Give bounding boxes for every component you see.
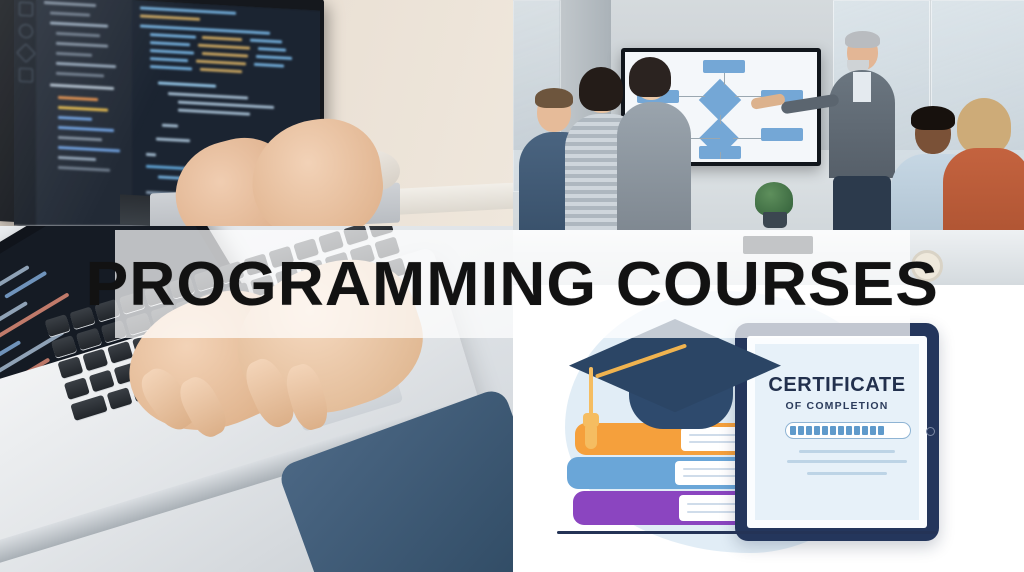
certificate-title: CERTIFICATE <box>755 374 919 397</box>
plant-pot <box>763 212 787 228</box>
ground-line <box>557 531 937 534</box>
certificate-document: CERTIFICATE OF COMPLETION <box>755 344 919 520</box>
poster-title: PROGRAMMING COURSES <box>86 249 939 320</box>
tassel-drop <box>589 367 593 419</box>
desk-papers <box>386 183 513 216</box>
panel-code-editor-photo <box>0 0 513 226</box>
poster-canvas: CERTIFICATE OF COMPLETION <box>0 0 1024 572</box>
progress-bar <box>785 422 911 439</box>
certificate-subtitle: OF COMPLETION <box>755 400 919 412</box>
certificate-text-line <box>799 450 895 453</box>
certificate-text-line <box>787 460 907 463</box>
tablet-device[interactable]: CERTIFICATE OF COMPLETION <box>735 323 939 541</box>
tassel-tail <box>585 425 597 449</box>
office-plant <box>755 182 793 216</box>
attendee-3 <box>617 62 691 242</box>
tablet-home-button[interactable] <box>926 427 935 436</box>
flow-node-right-2 <box>761 128 803 141</box>
certificate-text-line <box>807 472 887 475</box>
instructor-collar <box>853 72 871 102</box>
flow-node-start <box>703 60 745 73</box>
title-banner: PROGRAMMING COURSES <box>115 230 910 338</box>
